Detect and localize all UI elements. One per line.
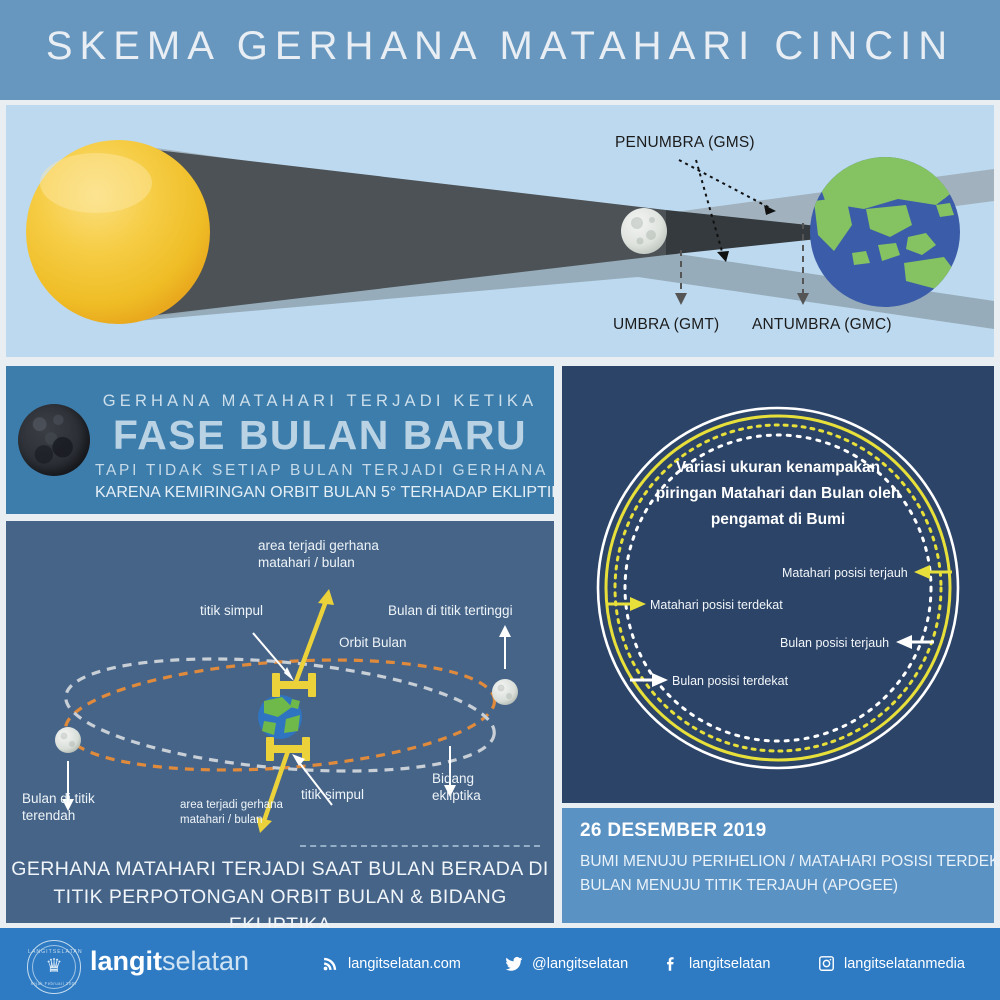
label-moon-nearest: Bulan posisi terdekat — [672, 674, 788, 688]
brand-bold-part: langit — [90, 946, 162, 976]
orbit-panel-caption: GERHANA MATAHARI TERJADI SAAT BULAN BERA… — [6, 855, 554, 939]
new-moon-icon — [18, 404, 90, 476]
label-sun-farthest: Matahari posisi terjauh — [782, 566, 908, 580]
fase-subtitle-top: GERHANA MATAHARI TERJADI KETIKA — [95, 392, 545, 411]
date-detail-line-2: BULAN MENUJU TITIK TERJAUH (APOGEE) — [580, 877, 898, 895]
label-antumbra: ANTUMBRA (GMC) — [752, 316, 892, 334]
apparent-size-title: Variasi ukuran kenampakan piringan Matah… — [622, 455, 934, 533]
arrow-sun-farthest — [914, 565, 952, 579]
label-penumbra: PENUMBRA (GMS) — [615, 134, 755, 152]
label-orbit-bulan: Orbit Bulan — [339, 634, 407, 651]
label-sun-nearest: Matahari posisi terdekat — [650, 598, 783, 612]
social-label-website: langitselatan.com — [348, 956, 461, 972]
umbra-arrowhead — [675, 293, 687, 305]
orbit-divider-dashed — [300, 845, 540, 847]
social-link-twitter[interactable]: @langitselatan — [505, 955, 628, 973]
moon-lowest — [55, 727, 81, 753]
label-eclipse-area-bottom: area terjadi gerhana matahari / bulan — [180, 798, 283, 828]
date-detail-line-1: BUMI MENUJU PERIHELION / MATAHARI POSISI… — [580, 853, 1000, 871]
header-bar: SKEMA GERHANA MATAHARI CINCIN — [0, 0, 1000, 100]
eclipse-date: 26 DESEMBER 2019 — [580, 820, 766, 842]
social-link-instagram[interactable]: langitselatanmedia — [818, 955, 965, 972]
moon — [621, 208, 667, 254]
social-link-facebook[interactable]: langitselatan — [662, 955, 770, 973]
logo-rider-icon: ♛ — [41, 956, 67, 978]
arrowhead-node-top — [284, 667, 294, 681]
apparent-size-svg — [562, 366, 994, 803]
social-label-instagram: langitselatanmedia — [844, 956, 965, 972]
langitselatan-logo[interactable]: LANGITSELATAN ♛ sejak Februari 2007 — [27, 940, 81, 994]
eclipse-area-arrowhead-top — [318, 589, 334, 605]
label-eclipse-area-top: area terjadi gerhana matahari / bulan — [258, 537, 379, 571]
fase-subtitle-bottom: KARENA KEMIRINGAN ORBIT BULAN 5° TERHADA… — [95, 484, 545, 502]
brand-light-part: selatan — [162, 946, 249, 976]
twitter-icon — [505, 955, 523, 973]
earth — [810, 153, 960, 307]
page-title: SKEMA GERHANA MATAHARI CINCIN — [0, 24, 1000, 69]
facebook-icon — [662, 955, 680, 973]
fase-subtitle-mid: TAPI TIDAK SETIAP BULAN TERJADI GERHANA — [95, 462, 545, 480]
moon-highest — [492, 679, 518, 705]
rss-icon — [322, 955, 339, 972]
label-moon-lowest: Bulan di titik terendah — [22, 790, 95, 824]
social-link-website[interactable]: langitselatan.com — [322, 955, 461, 972]
apparent-size-panel — [562, 366, 994, 803]
label-moon-farthest: Bulan posisi terjauh — [780, 636, 889, 650]
social-label-twitter: @langitselatan — [532, 956, 628, 972]
infographic-root: SKEMA GERHANA MATAHARI CINCIN — [0, 0, 1000, 1000]
label-moon-highest: Bulan di titik tertinggi — [388, 602, 513, 619]
arrow-moon-farthest — [896, 635, 934, 649]
logo-arc-top-text: LANGITSELATAN — [28, 949, 80, 955]
label-node-bottom: titik simpul — [301, 786, 364, 803]
logo-arc-bottom-text: sejak Februari 2007 — [28, 981, 80, 986]
fase-headline: FASE BULAN BARU — [95, 412, 545, 459]
label-node-top: titik simpul — [200, 602, 263, 619]
label-ecliptic-plane: Bidang ekliptika — [432, 770, 481, 804]
arrowhead-moon-highest — [499, 625, 511, 637]
social-label-facebook: langitselatan — [689, 956, 770, 972]
instagram-icon — [818, 955, 835, 972]
earth-center — [258, 695, 302, 739]
leader-node-top — [253, 633, 288, 674]
brand-wordmark[interactable]: langitselatan — [90, 946, 249, 977]
label-umbra: UMBRA (GMT) — [613, 316, 719, 334]
